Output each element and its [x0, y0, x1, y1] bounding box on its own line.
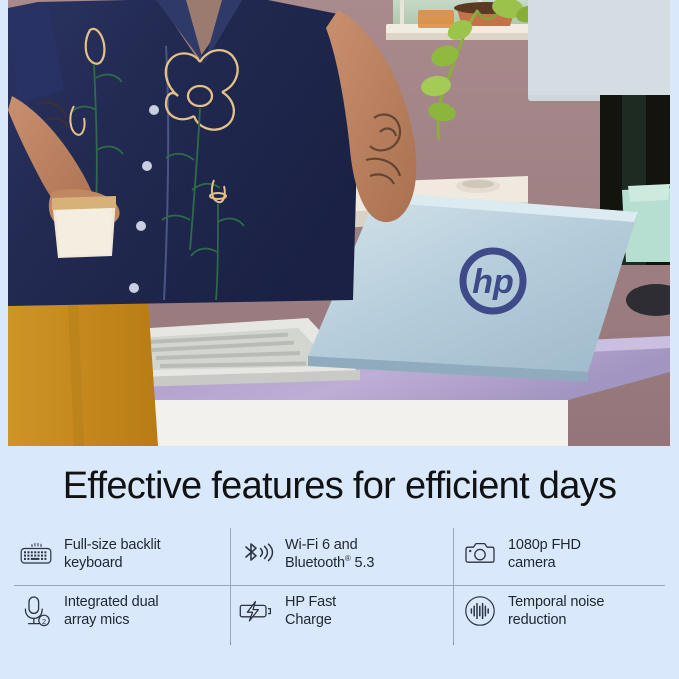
feature-label-line1: Wi-Fi 6 and	[285, 537, 357, 553]
camera-icon	[460, 535, 500, 573]
hero-photo: hp	[8, 0, 670, 446]
feature-label: Wi-Fi 6 and Bluetooth® 5.3	[285, 535, 374, 572]
feature-label-line2: camera	[508, 555, 555, 571]
feature-label-line1: Full-size backlit	[64, 537, 161, 553]
feature-item-wireless: Wi-Fi 6 and Bluetooth® 5.3	[231, 528, 454, 585]
feature-label-line2-version: 5.3	[351, 555, 375, 571]
page-title: Effective features for efficient days	[0, 462, 679, 510]
feature-label: Temporal noise reduction	[508, 592, 604, 629]
feature-item-fast-charge: HP Fast Charge	[231, 585, 454, 642]
svg-text:hp: hp	[472, 263, 514, 301]
feature-grid: Full-size backlit keyboard Wi-Fi 6 and B…	[10, 528, 670, 653]
feature-label: Full-size backlit keyboard	[64, 535, 161, 572]
feature-label-line2: Bluetooth	[285, 555, 345, 571]
microphone-dual-icon: 2	[16, 592, 56, 630]
feature-item-keyboard: Full-size backlit keyboard	[10, 528, 231, 585]
feature-label: Integrated dual array mics	[64, 592, 159, 629]
feature-item-microphones: 2 Integrated dual array mics	[10, 585, 231, 642]
feature-item-camera: 1080p FHD camera	[454, 528, 670, 585]
waveform-circle-icon	[460, 592, 500, 630]
feature-label-line1: Temporal noise	[508, 594, 604, 610]
feature-item-noise-reduction: Temporal noise reduction	[454, 585, 670, 642]
feature-label-line1: 1080p FHD	[508, 537, 581, 553]
feature-label-line2: reduction	[508, 612, 566, 628]
feature-label: HP Fast Charge	[285, 592, 336, 629]
battery-fast-charge-icon	[237, 592, 277, 630]
feature-label-line2: array mics	[64, 612, 129, 628]
svg-text:2: 2	[42, 617, 46, 626]
feature-label-line2: Charge	[285, 612, 332, 628]
feature-label: 1080p FHD camera	[508, 535, 581, 572]
feature-label-line1: Integrated dual	[64, 594, 159, 610]
keyboard-icon	[16, 535, 56, 573]
feature-label-line1: HP Fast	[285, 594, 336, 610]
product-feature-card: hp	[0, 0, 679, 679]
bluetooth-wifi-icon	[237, 535, 277, 573]
feature-label-line2: keyboard	[64, 555, 122, 571]
